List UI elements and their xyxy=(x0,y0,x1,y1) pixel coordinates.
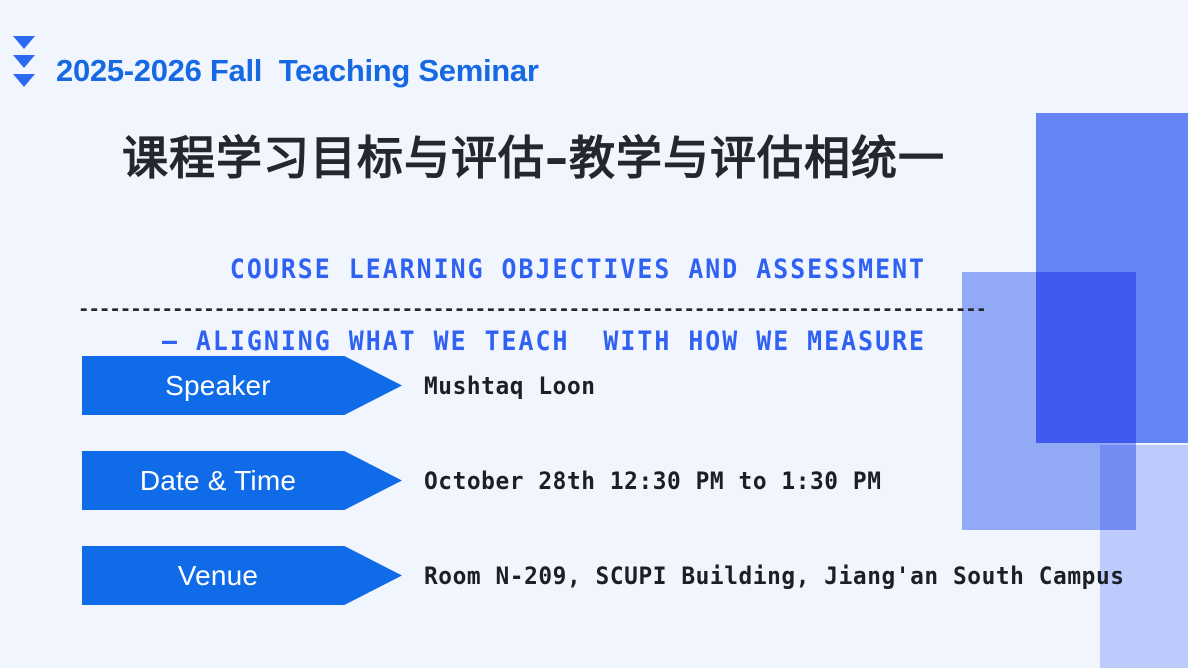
triangle-decoration-group xyxy=(13,36,39,87)
datetime-value: October 28th 12:30 PM to 1:30 PM xyxy=(424,451,881,510)
datetime-banner: Date & Time xyxy=(82,451,402,510)
list-item: Date & Time October 28th 12:30 PM to 1:3… xyxy=(82,451,1142,546)
venue-value: Room N-209, SCUPI Building, Jiang'an Sou… xyxy=(424,546,1125,605)
page-title-english-line2: — ALIGNING WHAT WE TEACH WITH HOW WE MEA… xyxy=(112,324,977,360)
venue-banner: Venue xyxy=(82,546,402,605)
speaker-value: Mushtaq Loon xyxy=(424,356,596,415)
speaker-banner-label: Speaker xyxy=(165,370,271,402)
seminar-poster: 2025-2026 Fall Teaching Seminar 课程学习目标与评… xyxy=(0,0,1188,668)
datetime-banner-label: Date & Time xyxy=(140,465,296,497)
page-title-chinese: 课程学习目标与评估–教学与评估相统一 xyxy=(122,122,945,188)
speaker-banner: Speaker xyxy=(82,356,402,415)
venue-banner-label: Venue xyxy=(178,560,258,592)
list-item: Venue Room N-209, SCUPI Building, Jiang'… xyxy=(82,546,1142,641)
triangle-down-icon xyxy=(13,74,35,87)
triangle-down-icon xyxy=(13,36,35,49)
seminar-series-kicker: 2025-2026 Fall Teaching Seminar xyxy=(56,53,539,89)
dashed-divider: ----------------------------------------… xyxy=(78,299,984,319)
details-list: Speaker Mushtaq Loon Date & Time October… xyxy=(82,356,1142,641)
page-title-english-line1: COURSE LEARNING OBJECTIVES AND ASSESSMEN… xyxy=(230,254,926,285)
list-item: Speaker Mushtaq Loon xyxy=(82,356,1142,451)
triangle-down-icon xyxy=(13,55,35,68)
